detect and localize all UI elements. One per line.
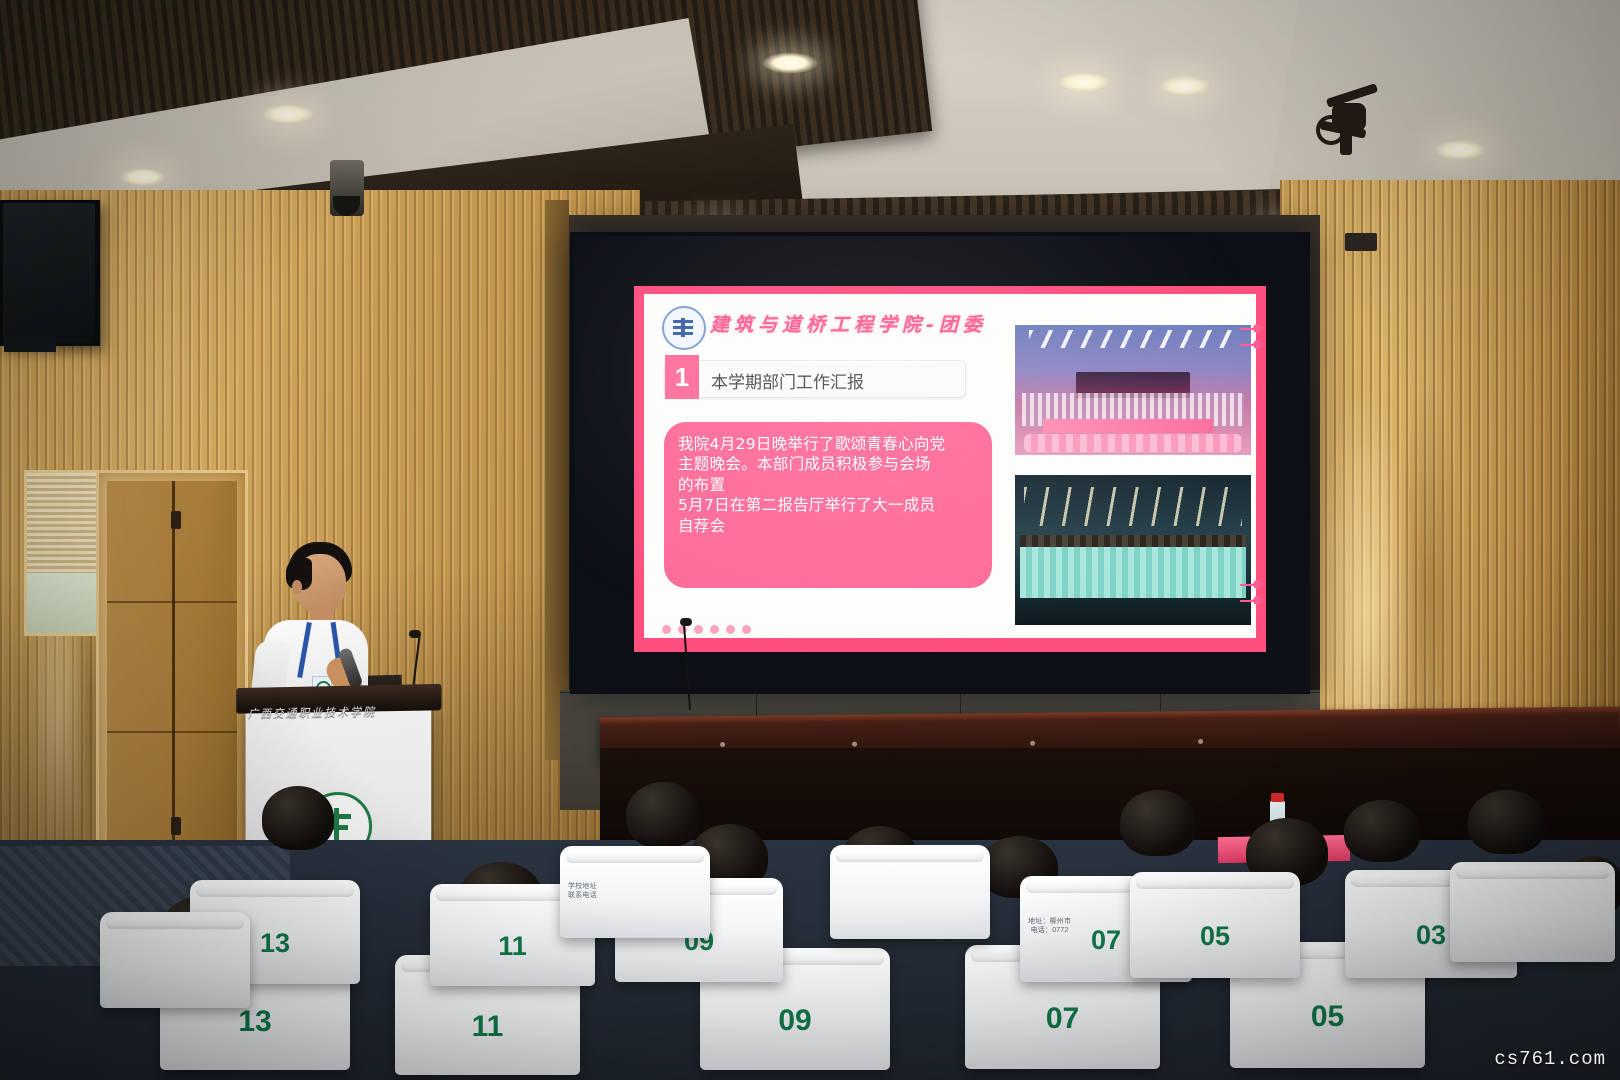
footer-icon <box>726 625 735 634</box>
decor-dot-icon <box>1253 580 1262 589</box>
presenter-ear <box>292 580 302 594</box>
seat-number: 05 <box>1230 1000 1425 1034</box>
decor-dot-icon <box>1253 340 1262 349</box>
slide-body-card: 我院4月29日晚举行了歌颂青春心向党 主题晚会。本部门成员积极参与会场 的布置 … <box>664 422 992 588</box>
watermark: cs761.com <box>1494 1048 1606 1070</box>
wall-speaker-right <box>1345 233 1377 251</box>
ceiling-downlight <box>1434 140 1486 160</box>
slide-header-title: 建筑与道桥工程学院-团委 <box>710 310 987 337</box>
slide-body-line: 我院4月29日晚举行了歌颂青春心向党 <box>678 434 978 454</box>
chair-seat[interactable]: 05 <box>1130 872 1300 978</box>
chair-seat[interactable] <box>100 912 250 1008</box>
ceiling-downlight <box>1160 76 1210 96</box>
window-blinds <box>27 473 101 573</box>
door-handle-icon[interactable] <box>171 817 181 835</box>
decor-line <box>1240 344 1254 346</box>
footer-icon <box>710 625 719 634</box>
decor-line <box>1240 328 1254 330</box>
ceiling-downlight <box>120 168 166 186</box>
podium-sign-text: 广西交通职业技术学院 <box>248 703 411 724</box>
slide-section-bar: 1 本学期部门工作汇报 <box>664 360 966 398</box>
microphone-head-icon <box>680 618 692 626</box>
microphone-head-icon <box>409 630 421 638</box>
bottle-cap-icon <box>1271 793 1284 802</box>
section-title-label: 本学期部门工作汇报 <box>711 368 864 393</box>
podium-top-surface: 广西交通职业技术学院 <box>236 684 441 714</box>
slide-body-line: 主题晚会。本部门成员积极参与会场 <box>678 454 978 474</box>
presentation-slide: 建筑与道桥工程学院-团委 1 本学期部门工作汇报 我院4月29日晚举行了歌颂青春… <box>634 286 1266 652</box>
decor-dot-icon <box>1253 324 1262 333</box>
chair-seat[interactable]: 学校地址联系电话 <box>560 846 710 938</box>
photo-assembly-hall <box>1012 472 1254 628</box>
side-window <box>24 470 104 636</box>
seat-number: 11 <box>395 1010 580 1044</box>
chair-seat[interactable] <box>1450 862 1615 962</box>
ceiling-speaker <box>330 160 364 216</box>
slide-body-line: 5月7日在第二报告厅举行了大一成员 <box>678 495 978 515</box>
slide-body-line: 自荐会 <box>678 516 978 536</box>
audience-head <box>262 786 334 850</box>
seat-info-text: 地址：柳州市电话：0772 <box>1028 918 1071 936</box>
seat-info-text: 学校地址联系电话 <box>568 883 597 901</box>
stage-lighting-rig <box>1310 85 1396 165</box>
slide-footer-icons <box>662 625 751 634</box>
audience-head <box>1120 790 1196 856</box>
wall-monitor <box>0 200 100 346</box>
chair-seat[interactable] <box>830 845 990 939</box>
decor-line <box>1240 584 1254 586</box>
footer-icon <box>662 625 671 634</box>
photo-group-stage <box>1012 322 1254 458</box>
wall-trim-strip <box>545 200 569 760</box>
auditorium-photo-scene: 建筑与道桥工程学院-团委 1 本学期部门工作汇报 我院4月29日晚举行了歌颂青春… <box>0 0 1620 1080</box>
slide-body-line: 的布置 <box>678 475 978 495</box>
section-number-badge: 1 <box>665 355 699 399</box>
school-crest-logo <box>662 306 706 350</box>
seat-number: 13 <box>160 1005 350 1039</box>
ceiling-downlight <box>762 52 818 74</box>
ceiling-downlight <box>1058 72 1110 92</box>
slide-content-area: 建筑与道桥工程学院-团委 1 本学期部门工作汇报 我院4月29日晚举行了歌颂青春… <box>644 294 1256 638</box>
wall-monitor-base <box>4 338 56 352</box>
footer-icon <box>742 625 751 634</box>
seat-number: 09 <box>700 1004 890 1038</box>
decor-dot-icon <box>1253 596 1262 605</box>
window-glass <box>27 573 101 633</box>
seat-number: 05 <box>1130 921 1300 952</box>
ceiling-downlight <box>262 104 314 124</box>
audience-head <box>1344 800 1420 862</box>
seat-number: 07 <box>965 1002 1160 1036</box>
speaker-dome-icon <box>333 196 360 216</box>
audience-head <box>626 782 700 848</box>
footer-icon <box>694 625 703 634</box>
audience-head <box>1468 790 1546 854</box>
door-closer-icon <box>171 511 181 529</box>
decor-line <box>1240 600 1254 602</box>
